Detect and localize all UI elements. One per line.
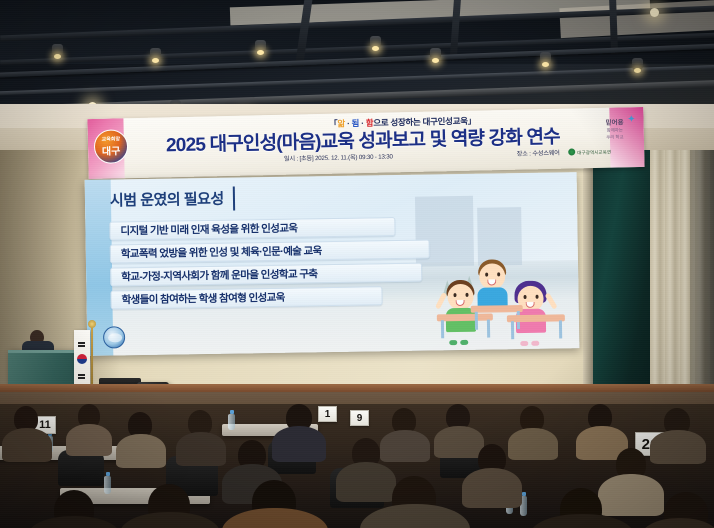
table-placard: 1 (318, 406, 337, 422)
slide-bullet-text: 학생들이 참여하는 학생 참여형 인성교욱 (111, 290, 285, 308)
flag-taeguk-circle (77, 354, 87, 364)
water-bottle (228, 414, 235, 430)
attendee-shoulders (176, 432, 226, 466)
office-label: 대구광역시교욱연 (577, 150, 611, 156)
table-placard-number: 11 (39, 419, 51, 431)
flag-trigram (78, 377, 85, 379)
event-banner: 교육희망 대구 「앎 · 됨 · 함으로 성장하는 대구인성교욱」 2025 대… (87, 107, 644, 179)
child-eye (536, 295, 539, 299)
audience-area: 11 1 9 26 (0, 404, 714, 528)
badge-line2: 대구 (95, 146, 127, 158)
attendee-shoulders (598, 474, 664, 516)
projection-screen: 시범 운였의 필요성 디지털 기반 미래 인재 육성을 위한 인성교욱 학교폭력… (85, 172, 580, 356)
conference-hall-photo: 교육희망 대구 「앎 · 됨 · 함으로 성장하는 대구인성교욱」 2025 대… (0, 0, 714, 528)
child-desk (471, 305, 523, 313)
child-eye (453, 293, 456, 297)
right-logo-line3: 우리 학교 (592, 134, 638, 141)
child-eye (465, 293, 468, 297)
flag-trigram (78, 345, 85, 347)
stage-spotlight (632, 58, 643, 71)
stage-spotlight (540, 52, 551, 65)
child-shoe (460, 340, 468, 345)
flag-trigram (78, 374, 85, 376)
child-desk-leg (475, 312, 478, 330)
table-placard: 9 (350, 410, 369, 426)
water-bottle (104, 476, 111, 494)
slide-heading: 시범 운였의 필요성 (107, 187, 235, 213)
stage-spotlight (150, 48, 161, 61)
flag-trigram (78, 342, 85, 344)
slide-bullet-text: 학교-가정-지역사회가 함께 운마을 인성학교 구축 (111, 266, 317, 284)
attendee-shoulders (336, 462, 396, 502)
slide-bullet-row: 학교폭력 었방을 위한 인성 및 체육·인문·예술 교욱 (110, 239, 430, 263)
slide-bullet-text: 디지털 기반 미래 인재 육성을 위한 인성교욱 (110, 221, 297, 239)
attendee-shoulders-foreground (28, 516, 120, 528)
child-arm-raised (435, 292, 447, 309)
attendee-shoulders (380, 430, 430, 462)
right-logo: ✦ 믿어용 함께하는 우리 학교 (591, 116, 638, 147)
badge-line1: 교육희망 (95, 137, 127, 143)
stage-spotlight (370, 36, 381, 49)
child-eye (485, 273, 488, 277)
stage-curtain-green (583, 150, 655, 398)
slide-bullet-text: 학교폭력 었방을 위한 인성 및 체육·인문·예술 교욱 (111, 243, 322, 261)
attendee-shoulders (116, 434, 166, 468)
table-placard-number: 1 (325, 409, 331, 420)
attendee-shoulders (272, 426, 326, 462)
child-shoe (531, 341, 539, 346)
attendee-shoulders (2, 428, 52, 462)
child-head (479, 263, 505, 289)
child-desk-leg (487, 320, 490, 338)
child-arm-raised (545, 292, 558, 309)
child-desk-leg (441, 320, 444, 338)
child-desk-leg (511, 321, 514, 339)
child-desk (507, 314, 565, 322)
attendee-shoulders-foreground (530, 514, 634, 528)
attendee-shoulders (66, 424, 112, 456)
child-shoe (520, 341, 528, 346)
attendee-shoulders-foreground (120, 512, 220, 528)
slide-bullet-row: 디지털 기반 미래 인재 육성을 위한 인성교욱 (109, 217, 395, 240)
stage-spotlight (52, 44, 63, 57)
attendee-shoulders-foreground (222, 508, 328, 528)
child-eye (497, 272, 500, 276)
stage-spotlight (255, 40, 266, 53)
attendee-shoulders (650, 430, 706, 464)
flag-pole-finial (88, 320, 96, 328)
stage-curtain-shadow (690, 150, 714, 400)
star-logo-icon: ✦ (627, 114, 636, 125)
attendee-shoulders (434, 426, 484, 458)
stage-spotlight (430, 48, 441, 61)
child-eye (524, 295, 527, 299)
banner-office-credit: 대구광역시교욱연 (568, 148, 611, 157)
attendee-shoulders (508, 428, 558, 460)
child-desk (437, 313, 493, 321)
child-desk-leg (559, 320, 562, 338)
child-shoe (449, 340, 457, 345)
table-placard-number: 9 (357, 413, 363, 424)
three-children-at-desks-illustration (426, 250, 578, 350)
office-logo-icon (568, 148, 575, 155)
attendee-shoulders (462, 468, 522, 508)
right-logo-line2: 함께하는 (592, 127, 638, 134)
ceiling-downlight (650, 8, 659, 17)
